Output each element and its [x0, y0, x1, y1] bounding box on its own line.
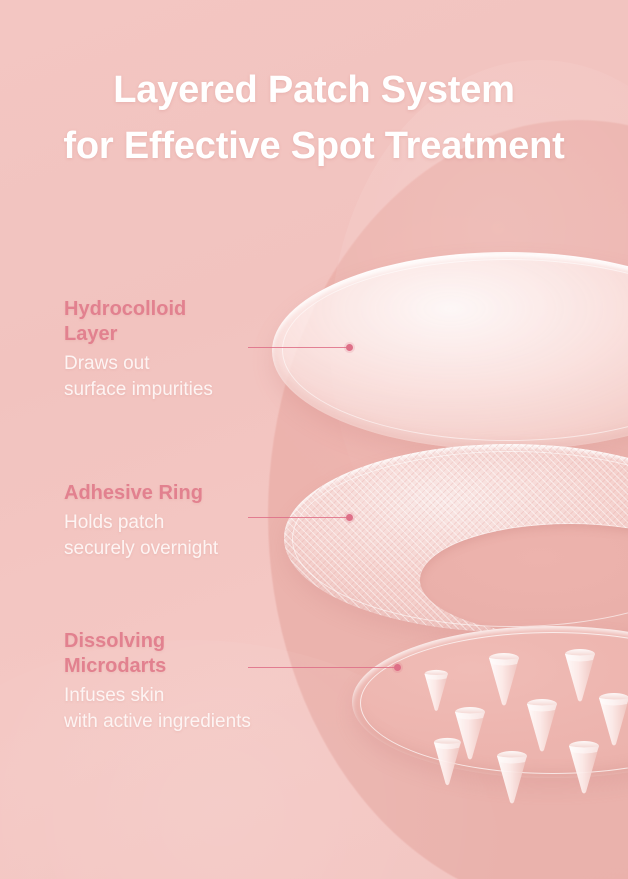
- page-title: Layered Patch System for Effective Spot …: [0, 62, 628, 174]
- callout-body-hydrocolloid-line1: Draws out: [64, 351, 284, 377]
- callout-text-adhesive-ring: Adhesive Ring Holds patch securely overn…: [64, 481, 314, 562]
- callout-body-adhesive-ring: Holds patch securely overnight: [64, 510, 314, 562]
- leader-dot-microdarts: [394, 664, 401, 671]
- callout-body-hydrocolloid-line2: surface impurities: [64, 377, 284, 403]
- title-line-1: Layered Patch System: [0, 62, 628, 118]
- callout-heading-adhesive-ring: Adhesive Ring: [64, 481, 314, 506]
- leader-dot-hydrocolloid: [346, 344, 353, 351]
- callout-heading-hydrocolloid-line2: Layer: [64, 322, 284, 347]
- infographic-canvas: Layered Patch System for Effective Spot …: [0, 0, 628, 879]
- callout-heading-microdarts-line2: Microdarts: [64, 654, 329, 679]
- callout-body-microdarts-line2: with active ingredients: [64, 709, 329, 735]
- title-line-2: for Effective Spot Treatment: [0, 118, 628, 174]
- callout-heading-hydrocolloid-line1: Hydrocolloid: [64, 297, 284, 322]
- callout-text-microdarts: Dissolving Microdarts Infuses skin with …: [64, 629, 329, 735]
- microdarts-group: [352, 620, 628, 790]
- callout-heading-hydrocolloid: Hydrocolloid Layer: [64, 297, 284, 347]
- callout-body-adhesive-ring-line1: Holds patch: [64, 510, 314, 536]
- callout-body-adhesive-ring-line2: securely overnight: [64, 536, 314, 562]
- callout-heading-microdarts-line1: Dissolving: [64, 629, 329, 654]
- callout-body-microdarts-line1: Infuses skin: [64, 683, 329, 709]
- leader-dot-adhesive-ring: [346, 514, 353, 521]
- callout-body-microdarts: Infuses skin with active ingredients: [64, 683, 329, 735]
- callout-text-hydrocolloid: Hydrocolloid Layer Draws out surface imp…: [64, 297, 284, 403]
- callout-heading-adhesive-ring-line1: Adhesive Ring: [64, 481, 314, 506]
- callout-heading-microdarts: Dissolving Microdarts: [64, 629, 329, 679]
- callout-body-hydrocolloid: Draws out surface impurities: [64, 351, 284, 403]
- hydrocolloid-disc: [272, 252, 628, 450]
